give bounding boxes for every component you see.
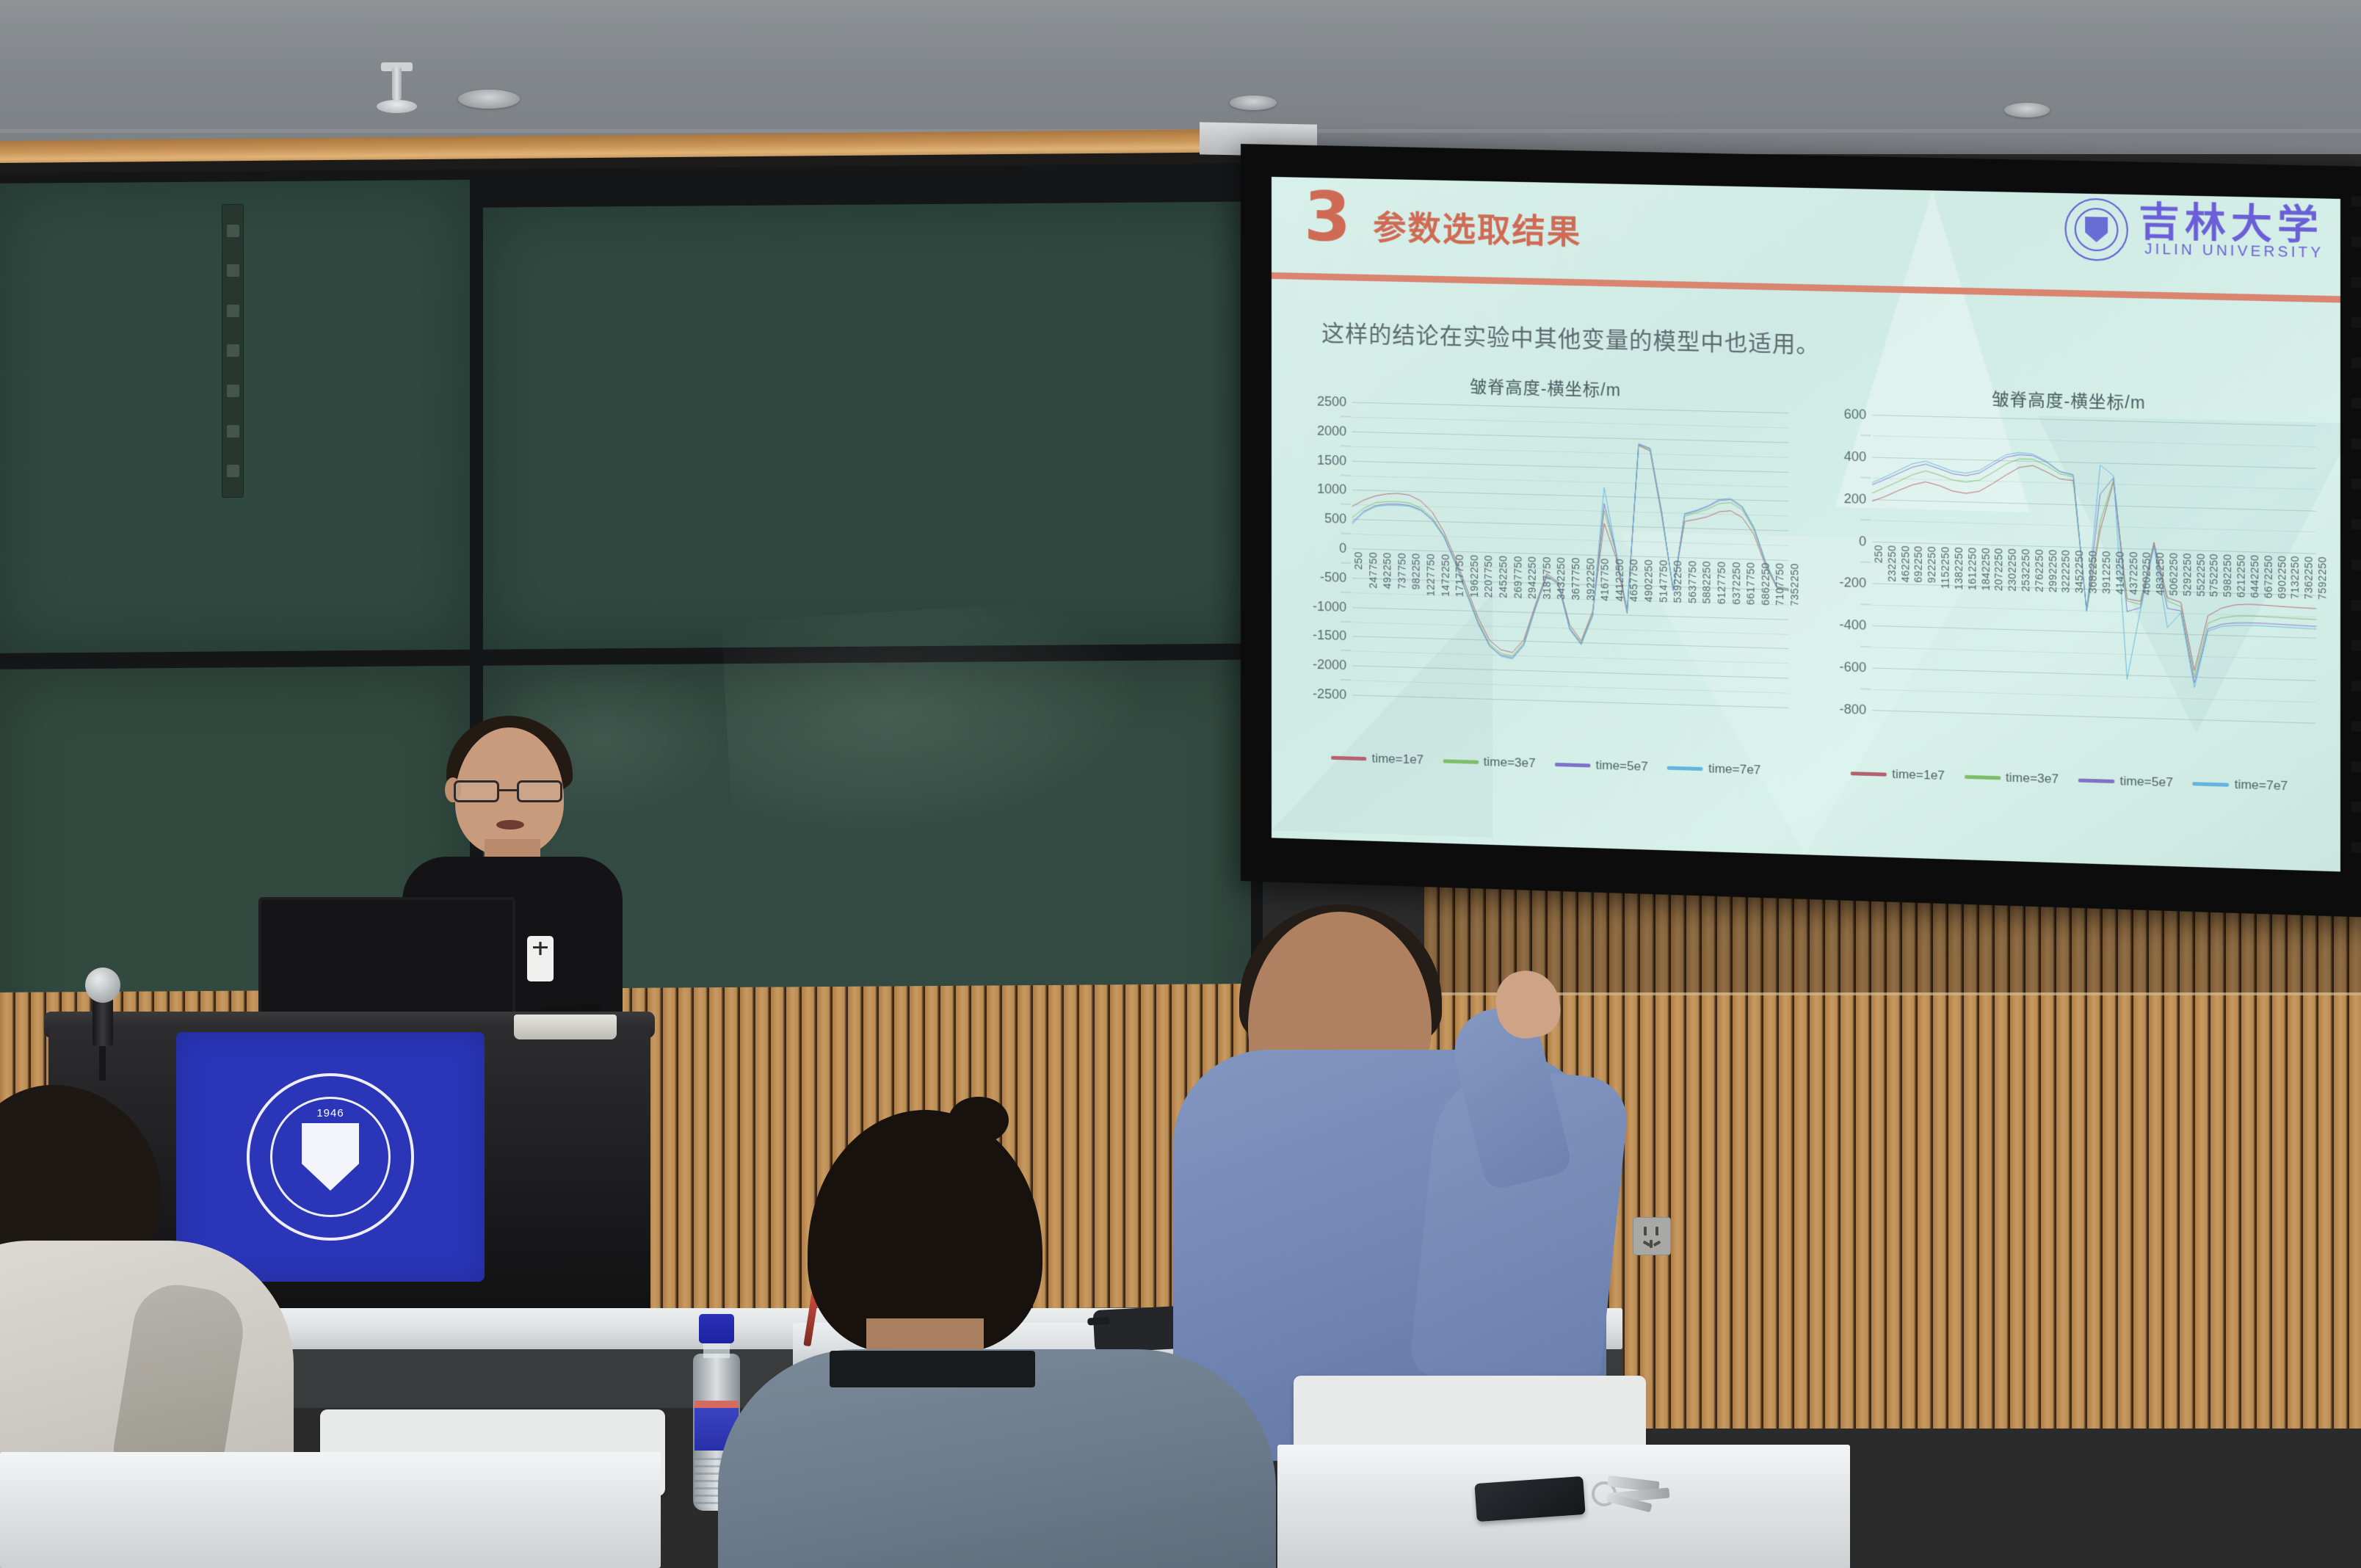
chart-y-minor-tick — [1860, 646, 1871, 647]
chart-title: 皱脊高度-横坐标/m — [1298, 369, 1794, 405]
legend-label: time=1e7 — [1892, 767, 1945, 783]
chart-y-tick-label: 0 — [1339, 540, 1346, 556]
chart-y-tick-label: -500 — [1320, 569, 1346, 585]
screen-tension-tabs — [2351, 196, 2361, 877]
chart-right: 皱脊高度-横坐标/m 6004002000-200-400-600-800250… — [1817, 381, 2322, 796]
legend-swatch — [1667, 766, 1703, 771]
wall-seam — [1424, 992, 2361, 995]
chart-x-tick-label: 2302250 — [2006, 548, 2018, 591]
chart-x-tick-label: 492250 — [1382, 552, 1393, 589]
legend-label: time=5e7 — [2119, 774, 2173, 790]
chart-x-tick-label: 232250 — [1886, 545, 1898, 582]
chart-x-tick-label: 6862250 — [1759, 562, 1771, 606]
chart-y-minor-tick — [1341, 621, 1351, 622]
legend-swatch — [2078, 778, 2114, 783]
chart-x-tick-label: 462250 — [1899, 545, 1911, 582]
sprinkler-icon — [387, 68, 406, 113]
university-seal-icon — [2064, 197, 2128, 261]
slide-body-text: 这样的结论在实验中其他变量的模型中也适用。 — [1321, 315, 1820, 360]
seal-year: 1946 — [250, 1107, 411, 1119]
legend-label: time=1e7 — [1371, 751, 1424, 767]
chart-legend: time=1e7time=3e7time=5e7time=7e7 — [1817, 765, 2322, 795]
chart-y-minor-tick — [1860, 604, 1871, 605]
chart-y-minor-tick — [1341, 446, 1351, 446]
chart-x-tick-label: 5882250 — [1701, 561, 1713, 604]
chart-x-tick-label: 3222250 — [2060, 549, 2072, 592]
chart-x-tick-label: 1612250 — [1966, 547, 1978, 590]
chart-x-tick-label: 2452250 — [1497, 555, 1509, 598]
dark-object-on-table — [830, 1351, 1035, 1387]
chart-legend-item[interactable]: time=7e7 — [2193, 776, 2288, 794]
chalkboard — [0, 163, 1263, 1003]
legend-swatch — [2193, 782, 2230, 787]
chart-x-tick-label: 3912250 — [2100, 551, 2112, 594]
chart-x-tick-label: 4832250 — [2154, 551, 2166, 595]
chart-x-tick-label: 982250 — [1410, 553, 1422, 589]
chart-legend-item[interactable]: time=3e7 — [1965, 769, 2059, 787]
chart-x-tick-label: 2942250 — [1526, 556, 1538, 599]
legend-swatch — [1331, 755, 1366, 760]
podium-front-panel: 1946 — [176, 1032, 485, 1282]
chart-legend-item[interactable]: time=7e7 — [1667, 761, 1760, 778]
chart-x-tick-label: 2072250 — [1992, 548, 2004, 591]
chart-legend-item[interactable]: time=5e7 — [1555, 757, 1648, 774]
chart-y-minor-tick — [1860, 688, 1871, 689]
presentation-slide: 3 参数选取结果 吉林大学 JILIN UNIVERSITY 这样的结论在实验中… — [1272, 177, 2340, 872]
chart-plot-area: 6004002000-200-400-600-80025023225046225… — [1872, 415, 2315, 723]
chart-plot-area: 25002000150010005000-500-1000-1500-2000-… — [1352, 402, 1788, 708]
slide-header-rule — [1272, 272, 2340, 303]
chart-y-tick-label: 400 — [1844, 449, 1867, 465]
chart-x-tick-label: 692250 — [1912, 545, 1924, 583]
chart-y-minor-tick — [1341, 680, 1351, 680]
chart-x-tick-label: 250 — [1872, 544, 1884, 563]
legend-label: time=5e7 — [1596, 758, 1648, 774]
chart-x-tick-label: 5292250 — [2181, 552, 2193, 595]
chart-x-tick-label: 5062250 — [2167, 552, 2179, 595]
legend-swatch — [1443, 759, 1478, 763]
chart-y-tick-label: 2000 — [1317, 423, 1346, 439]
chart-legend-item[interactable]: time=3e7 — [1443, 753, 1535, 771]
chart-y-minor-tick — [1860, 562, 1871, 562]
chart-y-minor-tick — [1341, 416, 1351, 417]
university-name-cn: 吉林大学 — [2139, 203, 2324, 244]
microphone-icon[interactable] — [85, 968, 120, 1003]
chalkboard-panel — [483, 202, 1251, 650]
projection-screen: 3 参数选取结果 吉林大学 JILIN UNIVERSITY 这样的结论在实验中… — [1241, 144, 2361, 918]
chart-y-tick-label: -2000 — [1313, 656, 1346, 672]
chart-y-minor-tick — [1860, 477, 1871, 478]
chart-legend-item[interactable]: time=5e7 — [2078, 772, 2173, 790]
podium-university-seal-icon: 1946 — [247, 1073, 414, 1241]
slide-title: 参数选取结果 — [1373, 201, 1581, 253]
chart-y-minor-tick — [1341, 504, 1351, 504]
chart-y-minor-tick — [1860, 520, 1871, 520]
chart-y-tick-label: 1000 — [1317, 482, 1346, 498]
chart-y-tick-label: -200 — [1839, 575, 1866, 591]
chart-x-tick-label: 3432250 — [1555, 556, 1567, 600]
legend-swatch — [1851, 772, 1887, 777]
chart-y-tick-label: 2500 — [1317, 393, 1346, 410]
pouch[interactable] — [1093, 1306, 1183, 1353]
smartphone[interactable] — [1474, 1476, 1585, 1522]
chart-x-tick-label: 737750 — [1396, 553, 1407, 589]
chart-x-tick-label: 7107750 — [1774, 562, 1785, 606]
chart-x-tick-label: 6127750 — [1716, 561, 1727, 604]
chart-x-tick-label: 4167750 — [1599, 558, 1611, 601]
chart-x-tick-label: 7132250 — [2289, 555, 2302, 598]
legend-swatch — [1555, 762, 1590, 766]
chart-x-tick-label: 1472250 — [1439, 553, 1451, 597]
chart-x-tick-label: 1382250 — [1953, 546, 1965, 589]
chart-x-tick-label: 7352250 — [1788, 563, 1800, 606]
ceiling-downlight — [1230, 95, 1277, 110]
legend-label: time=7e7 — [2235, 777, 2288, 794]
chart-y-minor-tick — [1860, 435, 1871, 436]
chart-y-tick-label: -800 — [1839, 701, 1866, 717]
chart-y-tick-label: 0 — [1859, 533, 1866, 548]
chart-y-tick-label: 1500 — [1317, 452, 1346, 468]
university-name-en: JILIN UNIVERSITY — [2139, 241, 2324, 262]
power-outlet[interactable] — [1633, 1217, 1671, 1255]
chart-x-tick-label: 1152250 — [1939, 546, 1951, 589]
chart-x-tick-label: 4372250 — [2127, 551, 2139, 595]
chart-x-tick-label: 5392250 — [1672, 560, 1683, 603]
chart-y-tick-label: -1000 — [1313, 598, 1346, 614]
jilin-university-logo: 吉林大学 JILIN UNIVERSITY — [2064, 197, 2324, 266]
chart-y-minor-tick — [1341, 592, 1351, 592]
legend-swatch — [1965, 774, 2001, 780]
chart-x-tick-label: 6617750 — [1744, 562, 1756, 605]
chart-legend-item[interactable]: time=1e7 — [1851, 766, 1945, 783]
chart-x-tick-label: 1227750 — [1425, 553, 1437, 597]
chart-x-tick-label: 922250 — [1926, 545, 1937, 583]
chart-x-tick-label: 3682250 — [2086, 550, 2098, 593]
chart-x-tick-label: 1717750 — [1454, 554, 1465, 598]
chart-x-tick-label: 5752250 — [2208, 553, 2220, 596]
chart-x-tick-label: 5982250 — [2222, 553, 2234, 597]
chart-y-tick-label: -400 — [1839, 617, 1866, 633]
chart-y-tick-label: 500 — [1324, 511, 1346, 527]
table-front-row-left — [0, 1452, 661, 1568]
chart-x-tick-label: 4412250 — [1614, 559, 1625, 602]
chart-x-tick-label: 7592250 — [2316, 556, 2329, 600]
chart-left: 皱脊高度-横坐标/m 25002000150010005000-500-1000… — [1298, 369, 1794, 780]
chart-y-minor-tick — [1341, 533, 1351, 534]
slide-charts: 皱脊高度-横坐标/m 25002000150010005000-500-1000… — [1298, 369, 2322, 796]
legend-label: time=3e7 — [2006, 770, 2059, 786]
presenter-badge-wrap — [402, 716, 623, 1031]
chart-x-tick-label: 4902250 — [1642, 559, 1654, 603]
chart-x-tick-label: 6672250 — [2262, 554, 2274, 598]
slide-section-number: 3 — [1304, 184, 1351, 252]
chart-y-minor-tick — [1341, 650, 1351, 651]
ceiling-downlight — [458, 90, 520, 109]
lecture-hall-photo: 3 参数选取结果 吉林大学 JILIN UNIVERSITY 这样的结论在实验中… — [0, 0, 2361, 1568]
chart-x-tick-label: 4142250 — [2114, 551, 2125, 594]
chart-x-tick-label: 5522250 — [2194, 553, 2207, 596]
chart-x-tick-label: 2532250 — [2020, 548, 2031, 592]
chart-x-tick-label: 6372250 — [1730, 562, 1742, 605]
chart-y-tick-label: 600 — [1844, 406, 1867, 422]
chart-x-tick-label: 3452250 — [2073, 550, 2085, 593]
chart-y-minor-tick — [1341, 474, 1351, 475]
chart-x-tick-label: 5637750 — [1686, 560, 1698, 603]
chart-x-tick-label: 7362250 — [2302, 556, 2315, 599]
chart-x-tick-label: 2697750 — [1512, 556, 1523, 599]
chart-x-tick-label: 6212250 — [2235, 553, 2247, 597]
legend-label: time=3e7 — [1484, 755, 1536, 771]
chart-x-tick-label: 3922250 — [1584, 558, 1596, 601]
chart-y-tick-label: -600 — [1839, 659, 1866, 675]
chart-x-tick-label: 6902250 — [2275, 555, 2288, 598]
chart-x-tick-label: 4602250 — [2141, 551, 2153, 595]
keyring[interactable] — [1592, 1474, 1674, 1511]
chart-x-tick-label: 5147750 — [1657, 559, 1669, 603]
chart-legend: time=1e7time=3e7time=5e7time=7e7 — [1298, 749, 1794, 779]
chart-x-tick-label: 3677750 — [1570, 557, 1581, 600]
chart-x-tick-label: 2207750 — [1482, 555, 1494, 598]
chart-x-tick-label: 2992250 — [2046, 549, 2058, 592]
legend-label: time=7e7 — [1708, 761, 1761, 777]
chart-x-tick-label: 3187750 — [1541, 556, 1553, 600]
chart-x-tick-label: 6442250 — [2249, 554, 2261, 598]
chart-y-tick-label: -1500 — [1313, 628, 1346, 644]
chart-x-tick-label: 1842250 — [1979, 547, 1991, 590]
board-control-strip[interactable] — [222, 204, 244, 498]
chart-x-tick-label: 250 — [1352, 551, 1364, 570]
chart-x-tick-label: 247750 — [1367, 552, 1379, 589]
chart-title: 皱脊高度-横坐标/m — [1817, 381, 2322, 418]
chart-x-tick-label: 2762250 — [2033, 548, 2045, 592]
chart-legend-item[interactable]: time=1e7 — [1331, 750, 1424, 768]
chart-y-tick-label: 200 — [1844, 490, 1867, 507]
bottle-cap — [699, 1314, 734, 1343]
chart-y-minor-tick — [1341, 562, 1351, 563]
chart-x-tick-label: 1962250 — [1468, 554, 1480, 598]
ceiling-downlight — [2004, 103, 2050, 117]
chart-x-tick-label: 4657750 — [1628, 559, 1639, 602]
chart-y-tick-label: -2500 — [1313, 686, 1346, 702]
